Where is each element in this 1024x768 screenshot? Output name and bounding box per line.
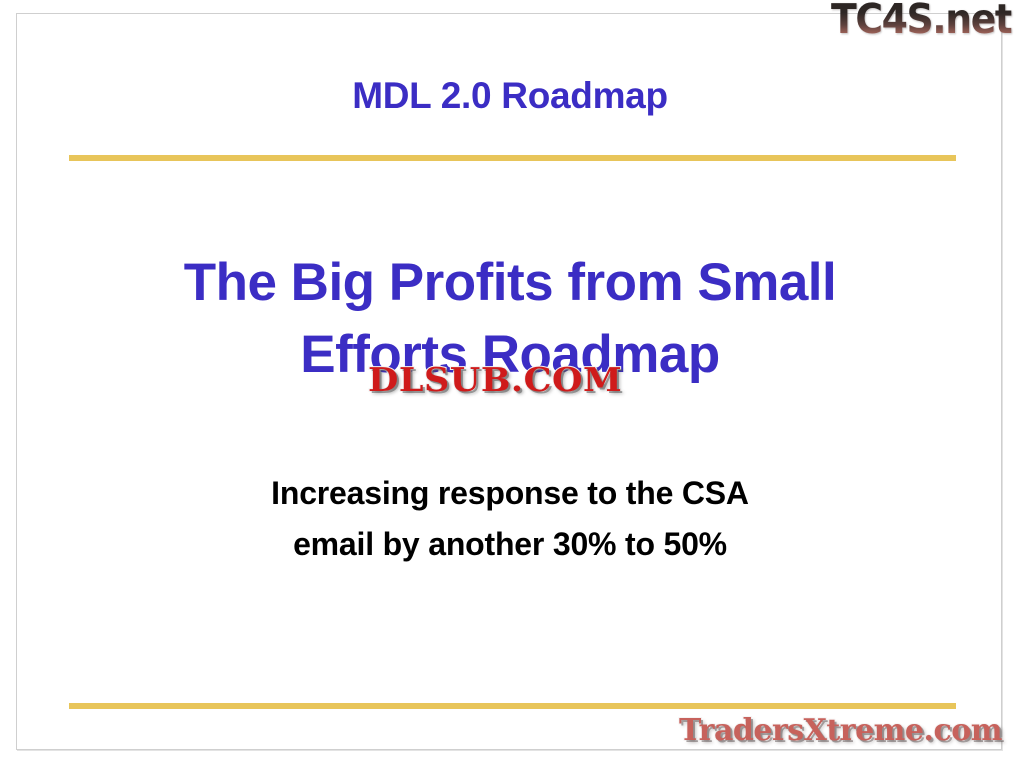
watermark-tc4s: TC4S.net [831,0,1012,41]
subtitle-line-2: email by another 30% to 50% [17,519,1003,570]
page-title: MDL 2.0 Roadmap [17,76,1003,117]
divider-bottom [69,703,956,709]
watermark-dlsub: DLSUB.COM [368,363,622,396]
divider-top [69,155,956,161]
watermark-tradersxtreme: TradersXtreme.com [679,716,1002,746]
subtitle-block: Increasing response to the CSA email by … [17,468,1003,570]
headline-line-1: The Big Profits from Small [17,247,1003,319]
subtitle-line-1: Increasing response to the CSA [17,468,1003,519]
